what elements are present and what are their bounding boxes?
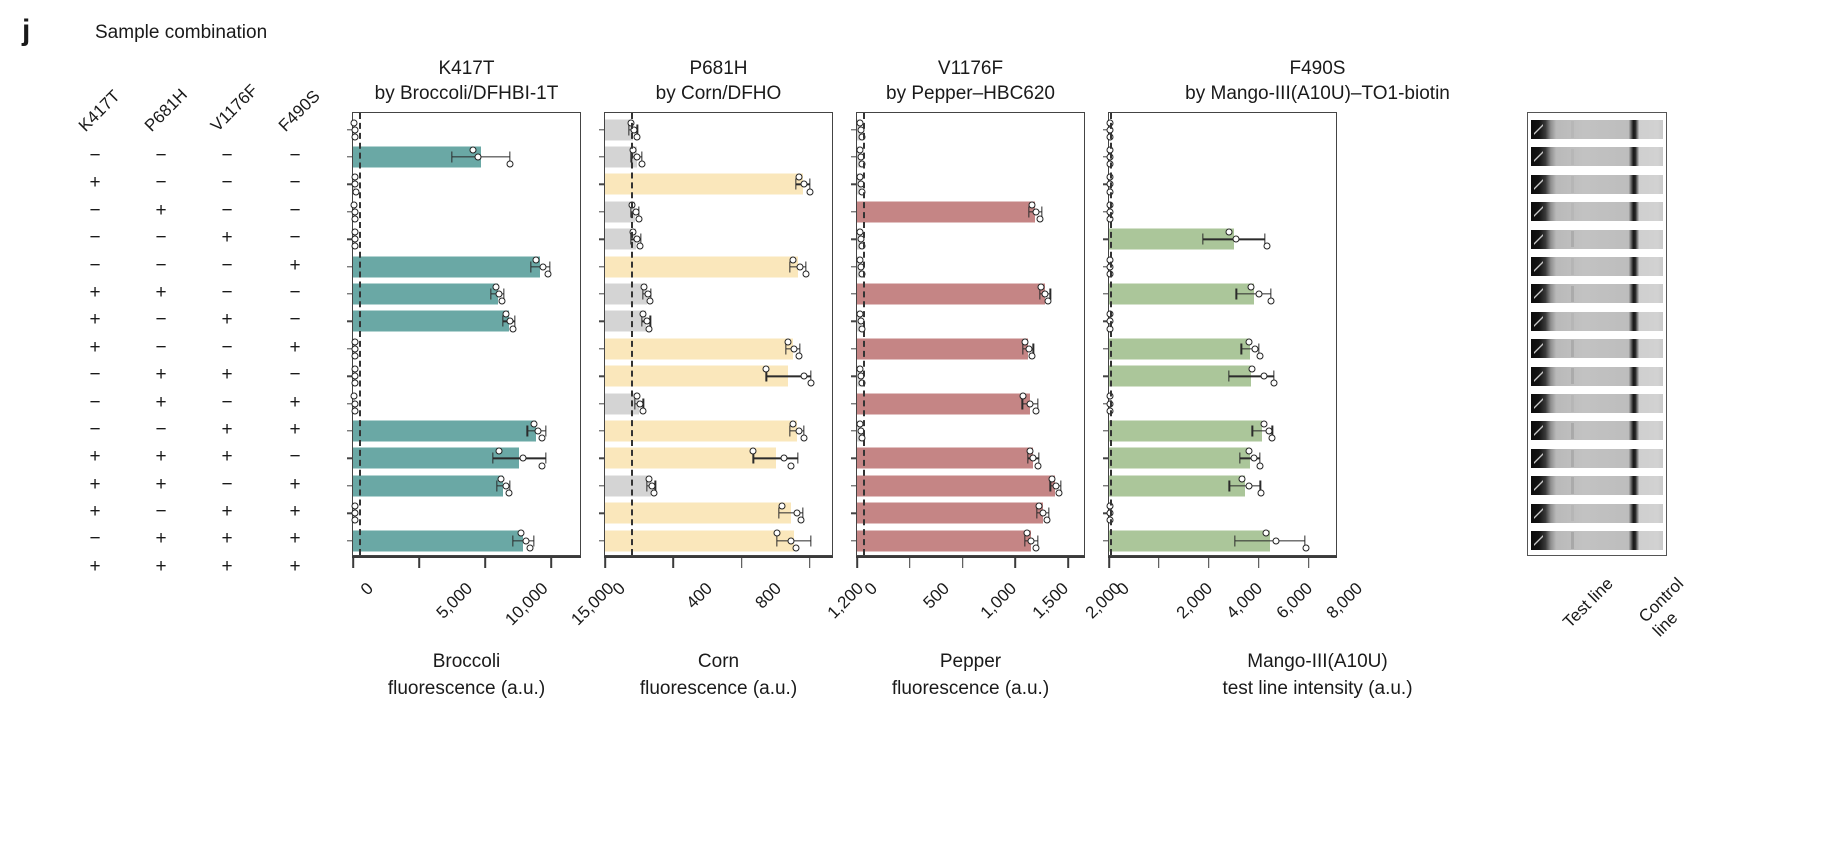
bar-row [353,363,580,390]
gel-labels: Test lineControlline [1527,570,1667,650]
gel-test-line [1571,450,1574,467]
bar[interactable] [857,503,1043,524]
bar[interactable] [605,530,794,551]
bar-row [1109,253,1336,280]
error-bar-cap [810,535,811,546]
error-bar-cap [1202,234,1203,245]
chart-panel-broccoli: K417Tby Broccoli/DFHBI-1T05,00010,00015,… [352,56,581,702]
error-bar-cap [451,152,452,163]
combo-cell-k417t: + [83,498,107,525]
error-bar [1236,293,1271,294]
data-point [1258,489,1265,496]
data-point [351,366,358,373]
combo-cell-v1176f: + [215,498,239,525]
chart-title-broccoli: K417Tby Broccoli/DFHBI-1T [352,56,581,106]
bar[interactable] [605,174,803,195]
data-point [538,462,545,469]
data-point [1239,475,1246,482]
gel-strip-image [1531,339,1663,358]
bar-row [1109,445,1336,472]
combo-cell-k417t: + [83,334,107,361]
x-axis-caption-line1: Pepper [856,648,1085,675]
data-point [497,475,504,482]
x-axis-tick [550,556,552,568]
error-bar-cap [512,535,513,546]
data-point [1250,455,1257,462]
gel-notch [1534,257,1543,276]
gel-strip [1531,449,1663,468]
x-tick-label: 1,000 [976,579,1020,623]
bar-group-corn [605,113,832,555]
gel-strip [1531,175,1663,194]
gel-test-line [1571,340,1574,357]
data-point [1030,455,1037,462]
combo-cell-p681h: + [149,471,173,498]
chart-title-corn: P681Hby Corn/DFHO [604,56,833,106]
bar[interactable] [605,420,797,441]
data-point [647,298,654,305]
error-bar [1235,540,1305,541]
gel-notch [1534,449,1543,468]
data-point [648,482,655,489]
combo-cell-k417t: − [83,389,107,416]
combo-cell-k417t: − [83,224,107,251]
combo-cell-v1176f: − [215,252,239,279]
data-point [351,126,358,133]
bar-row [605,417,832,444]
x-axis-tick [1308,556,1310,568]
combo-row: +−−− [95,169,355,196]
data-point [1032,544,1039,551]
x-tick-label: 6,000 [1272,579,1316,623]
chart-panel-corn: P681Hby Corn/DFHO04008001,200Cornfluores… [604,56,833,702]
combo-cell-p681h: + [149,361,173,388]
combo-cell-k417t: + [83,471,107,498]
combo-header-f490s: F490S [275,86,325,136]
data-point [503,311,510,318]
data-point [1029,201,1036,208]
combo-cell-k417t: − [83,525,107,552]
combo-cell-p681h: − [149,498,173,525]
bar[interactable] [857,338,1028,359]
combo-cell-f490s: + [283,525,307,552]
x-axis-tick [1108,556,1110,568]
data-point [351,208,358,215]
gel-test-line [1571,203,1574,220]
combo-row: +−++ [95,498,355,525]
bar-row [605,143,832,170]
data-point [788,462,795,469]
bar[interactable] [857,201,1035,222]
data-point [351,338,358,345]
data-point [1020,393,1027,400]
combo-cell-k417t: + [83,169,107,196]
data-point [475,154,482,161]
error-bar-cap [545,453,546,464]
data-point [1028,537,1035,544]
chart-title-line1: V1176F [938,58,1003,79]
x-tick-label: 0 [609,579,630,600]
x-axis-line [856,556,1085,558]
combo-cell-k417t: + [83,306,107,333]
bar-row [1109,143,1336,170]
x-axis-caption-broccoli: Broccolifluorescence (a.u.) [352,648,581,702]
data-point [632,208,639,215]
x-axis-tick [1067,556,1069,568]
x-axis-tick [418,556,420,568]
combo-cell-k417t: + [83,553,107,580]
bar-row [353,499,580,526]
gel-strip-image [1531,202,1663,221]
combo-cell-f490s: + [283,471,307,498]
x-tick-label: 1,500 [1029,579,1073,623]
bar[interactable] [353,256,540,277]
data-point [1249,366,1256,373]
bar-row [605,472,832,499]
combo-cell-v1176f: + [215,553,239,580]
combo-cell-v1176f: + [215,416,239,443]
threshold-line [631,113,633,555]
combo-row: +−−+ [95,334,355,361]
data-point [545,270,552,277]
data-point [530,420,537,427]
data-point [1035,503,1042,510]
gel-strip [1531,257,1663,276]
chart-panel-mango: F490Sby Mango-III(A10U)–TO1-biotin02,000… [1108,56,1527,702]
data-point [1034,462,1041,469]
gel-test-line [1571,477,1574,494]
bar-row [1109,308,1336,335]
error-bar-cap [1234,535,1235,546]
data-point [1270,380,1277,387]
combo-cell-p681h: − [149,169,173,196]
error-bar-cap [1229,480,1230,491]
bar-row [605,527,832,554]
x-axis-caption-line2: fluorescence (a.u.) [856,675,1085,702]
combo-cell-v1176f: + [215,306,239,333]
chart-title-line2: by Corn/DFHO [604,81,833,106]
bar[interactable] [857,448,1033,469]
data-point [1245,338,1252,345]
data-point [794,510,801,517]
combo-cell-f490s: + [283,553,307,580]
data-point [351,119,358,126]
bar[interactable] [353,420,536,441]
data-point [507,318,514,325]
data-point [634,154,641,161]
data-point [773,530,780,537]
x-axis-caption-line1: Corn [604,648,833,675]
bar-row [1109,116,1336,143]
x-axis-tick [1208,556,1210,568]
error-bar-cap [797,453,798,464]
bar[interactable] [857,475,1055,496]
x-axis-tick [741,556,743,568]
combo-cell-f490s: − [283,279,307,306]
gel-strip [1531,147,1663,166]
bar-row [605,445,832,472]
gel-strip-image [1531,147,1663,166]
x-axis-line [604,556,833,558]
bar-row [857,417,1084,444]
gel-test-line [1571,231,1574,248]
error-bar-cap [531,261,532,272]
bar[interactable] [605,256,798,277]
combo-cell-f490s: − [283,142,307,169]
combo-cell-p681h: − [149,416,173,443]
bar[interactable] [857,284,1045,305]
bar-row [1109,280,1336,307]
data-point [633,133,640,140]
error-bar-cap [502,316,503,327]
x-axis-tick [672,556,674,568]
bar-row [857,143,1084,170]
data-point [1269,435,1276,442]
bar[interactable] [1109,338,1250,359]
data-point [1264,243,1271,250]
x-tick-label: 0 [1113,579,1134,600]
data-point [1044,517,1051,524]
combo-cell-f490s: + [283,389,307,416]
gel-test-line [1571,286,1574,303]
data-point [1260,420,1267,427]
data-point [505,489,512,496]
combo-cell-k417t: + [83,279,107,306]
x-axis-tick [352,556,354,568]
bar[interactable] [605,503,791,524]
combo-row: −++− [95,361,355,388]
combo-header-v1176f: V1176F [207,81,262,136]
data-point [795,174,802,181]
gel-strip [1531,531,1663,550]
x-axis-line [352,556,581,558]
x-axis-caption-corn: Cornfluorescence (a.u.) [604,648,833,702]
combo-cell-p681h: + [149,389,173,416]
x-tick-label: 10,000 [501,579,552,630]
combo-row: +++− [95,443,355,470]
error-bar-cap [1241,343,1242,354]
gel-notch [1534,476,1543,495]
gel-notch [1534,421,1543,440]
data-point [789,420,796,427]
data-point [763,366,770,373]
gel-notch [1534,284,1543,303]
data-point [636,400,643,407]
gel-strip [1531,394,1663,413]
data-point [520,455,527,462]
gel-strip-image [1531,230,1663,249]
bar[interactable] [1109,420,1262,441]
x-axis-tick [1158,556,1160,568]
bar-row [353,390,580,417]
combo-cell-v1176f: + [215,224,239,251]
data-point [1023,530,1030,537]
gel-title-spacer [1527,56,1667,106]
bar-row [1109,390,1336,417]
bar[interactable] [353,284,498,305]
bar-row [857,116,1084,143]
data-point [351,236,358,243]
bar[interactable] [353,311,509,332]
gel-test-line [1571,121,1574,138]
data-point [1049,475,1056,482]
data-point [1033,208,1040,215]
gel-strip [1531,230,1663,249]
threshold-line [359,113,361,555]
sample-combination-title: Sample combination [95,22,355,44]
combo-cell-p681h: − [149,334,173,361]
data-point [1036,215,1043,222]
chart-panel-pepper: V1176Fby Pepper–HBC62005001,0001,5002,00… [856,56,1085,702]
data-point [1021,338,1028,345]
bar-row [605,335,832,362]
x-axis-caption-line2: test line intensity (a.u.) [1108,675,1527,702]
bar-row [1109,171,1336,198]
bar-row [857,253,1084,280]
data-point [633,393,640,400]
threshold-line [863,113,865,555]
gel-strip [1531,504,1663,523]
bar-row [857,226,1084,253]
data-point [1041,291,1048,298]
combo-cell-p681h: + [149,443,173,470]
gel-test-line-label: Test line [1559,574,1617,632]
gel-strip [1531,476,1663,495]
sample-combination-headers: K417TP681HV1176FF490S [95,64,355,136]
bar[interactable] [1109,475,1245,496]
plot-area-pepper [856,112,1085,556]
bar[interactable] [353,530,523,551]
x-axis-caption-line2: fluorescence (a.u.) [604,675,833,702]
combo-row: −+++ [95,525,355,552]
data-point [1026,448,1033,455]
data-point [1256,462,1263,469]
gel-test-line [1571,395,1574,412]
data-point [806,188,813,195]
data-point [1248,283,1255,290]
bar[interactable] [353,475,503,496]
data-point [802,270,809,277]
data-point [785,338,792,345]
gel-strip-image [1531,312,1663,331]
gel-strip-image [1531,120,1663,139]
bar-row [605,363,832,390]
combo-row: −−+− [95,224,355,251]
combo-cell-f490s: − [283,361,307,388]
x-tick-label: 0 [357,579,378,600]
gel-notch [1534,339,1543,358]
error-bar-cap [1228,371,1229,382]
gel-strip-image [1531,476,1663,495]
combo-cell-v1176f: − [215,389,239,416]
gel-strip-image [1531,504,1663,523]
combo-cell-p681h: − [149,142,173,169]
chart-title-pepper: V1176Fby Pepper–HBC620 [856,56,1085,106]
bar-row [1109,226,1336,253]
data-point [540,263,547,270]
data-point [1251,345,1258,352]
bar-row [857,280,1084,307]
data-point [492,283,499,290]
bar[interactable] [605,338,793,359]
data-point [646,325,653,332]
bar[interactable] [1109,284,1254,305]
combo-cell-v1176f: − [215,334,239,361]
bar-row [857,171,1084,198]
gel-image-frame [1527,112,1667,556]
data-point [640,407,647,414]
data-point [643,318,650,325]
data-point [1265,427,1272,434]
data-point [800,181,807,188]
gel-notch [1534,367,1543,386]
bar-row [1109,363,1336,390]
data-point [1225,229,1232,236]
bar-row [605,226,832,253]
bar-row [353,226,580,253]
x-axis-caption-line1: Mango-III(A10U) [1108,648,1527,675]
data-point [351,229,358,236]
bar[interactable] [857,530,1031,551]
x-axis-tick [484,556,486,568]
bar-row [353,472,580,499]
data-point [351,510,358,517]
data-point [503,482,510,489]
gel-axis-spacer [1527,556,1667,570]
data-point [1255,291,1262,298]
gel-test-line [1571,176,1574,193]
bar[interactable] [1109,448,1250,469]
combo-cell-f490s: + [283,416,307,443]
combo-cell-k417t: + [83,443,107,470]
data-point [1038,283,1045,290]
bar-row [605,280,832,307]
combo-cell-k417t: − [83,252,107,279]
data-point [351,503,358,510]
combo-row: −−++ [95,416,355,443]
gel-strip-image [1531,449,1663,468]
bar-row [353,527,580,554]
combo-header-k417t: K417T [75,86,125,136]
sample-combination-block: Sample combination K417TP681HV1176FF490S… [95,22,355,580]
data-point [640,311,647,318]
bar[interactable] [857,393,1030,414]
combo-cell-v1176f: − [215,169,239,196]
bar-row [1109,527,1336,554]
combo-cell-f490s: − [283,443,307,470]
combo-header-p681h: P681H [141,85,192,136]
x-axis-caption-pepper: Pepperfluorescence (a.u.) [856,648,1085,702]
gel-strip [1531,312,1663,331]
x-tick-label: 0 [861,579,882,600]
data-point [522,537,529,544]
bar-row [605,116,832,143]
combo-cell-k417t: − [83,142,107,169]
gel-notch [1534,120,1543,139]
combo-cell-f490s: − [283,197,307,224]
bar-row [353,253,580,280]
bar-row [353,445,580,472]
data-point [788,537,795,544]
x-tick-labels-mango: 02,0004,0006,0008,000 [1108,570,1337,642]
combo-row: −−−− [95,142,355,169]
gel-notch [1534,312,1543,331]
gel-strip [1531,339,1663,358]
error-bar-cap [533,535,534,546]
data-point [509,325,516,332]
gel-test-line [1571,505,1574,522]
bar-row [605,390,832,417]
